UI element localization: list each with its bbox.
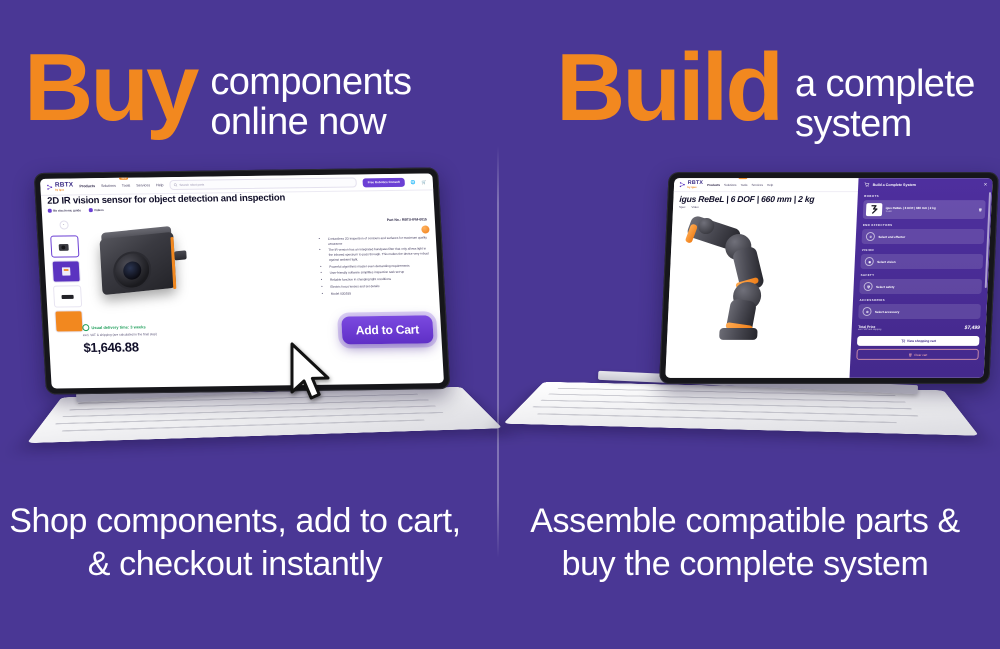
gripper-icon: ☪ bbox=[866, 232, 875, 241]
thumbnail-item[interactable] bbox=[54, 310, 83, 332]
section-label-safety: SAFETY bbox=[861, 273, 989, 277]
list-item: Powerful algorithms master even demandin… bbox=[329, 263, 431, 269]
globe-icon[interactable]: 🌐 bbox=[411, 179, 416, 184]
caption-right: Assemble compatible parts & buy the comp… bbox=[510, 500, 980, 586]
headline-left-sub: components online now bbox=[210, 62, 411, 143]
mouse-cursor-icon bbox=[288, 342, 336, 404]
caption-left: Shop components, add to cart, & checkout… bbox=[0, 500, 470, 586]
product-feature-list: Contactless 2D inspection of contours an… bbox=[322, 235, 434, 298]
select-end-effector-button[interactable]: ☪ Select end effector bbox=[862, 229, 984, 244]
section-label-accessories: ACCESSORIES bbox=[859, 298, 987, 302]
nav-badge-new: NEW bbox=[119, 177, 128, 180]
diagram-thumb-icon bbox=[59, 265, 74, 277]
nav-item-products[interactable]: Products bbox=[707, 183, 720, 187]
section-label-vision: VISION bbox=[862, 248, 990, 252]
cart-icon[interactable]: 🛒 bbox=[422, 179, 427, 184]
thumbnail-prev-button[interactable]: ⌃ bbox=[59, 220, 69, 229]
nav-item-services[interactable]: Services bbox=[136, 183, 150, 187]
select-vision-label: Select vision bbox=[877, 260, 896, 264]
total-price-row: Total Price excl. VAT and shipping $7,49… bbox=[858, 325, 980, 331]
delivery-label: Usual delivery time: 3 weeks bbox=[91, 324, 146, 330]
clear-cart-button[interactable]: 🗑 Clear cart bbox=[857, 349, 979, 360]
select-vision-button[interactable]: ◉ Select vision bbox=[861, 254, 983, 269]
nav-item-tools[interactable]: Tools bbox=[122, 184, 131, 188]
video-icon bbox=[89, 208, 93, 212]
guide-icon bbox=[48, 209, 52, 213]
meta-video[interactable]: Video bbox=[691, 205, 698, 209]
center-divider bbox=[497, 146, 499, 558]
cart-item-robot[interactable]: igus ReBeL | 6 DOF | 660 mm | 2 kg 1 uni… bbox=[863, 200, 986, 219]
list-item: Reliable function in changing light cond… bbox=[330, 277, 432, 283]
meta-spec[interactable]: Spec bbox=[679, 205, 686, 209]
trash-icon: 🗑 bbox=[908, 352, 912, 356]
headline-left: Buy components online now bbox=[24, 42, 411, 143]
panel-header: Build a Complete System bbox=[858, 178, 992, 190]
free-consult-button[interactable]: Free Robotics Consult bbox=[362, 177, 405, 187]
product-price: $1,646.88 bbox=[83, 339, 139, 355]
cart-icon bbox=[901, 339, 905, 343]
nav-item-help[interactable]: Help bbox=[156, 183, 164, 187]
camera-icon: ◉ bbox=[865, 257, 874, 266]
part-number-value: RBTX-IFM-0015 bbox=[402, 217, 427, 221]
part-number: Part No.: RBTX-IFM-0015 bbox=[387, 217, 427, 222]
thumbnail-item[interactable] bbox=[53, 285, 82, 307]
list-item: User-friendly software simplifies inspec… bbox=[330, 270, 432, 276]
tablet-screen-shell-right: RBTX by igus Products Solutions NEW Tool… bbox=[659, 172, 999, 384]
select-accessory-button[interactable]: ⚙ Select accessory bbox=[859, 304, 981, 319]
select-end-effector-label: Select end effector bbox=[878, 235, 905, 239]
meta-guide-label: file electronic guide bbox=[53, 208, 81, 212]
total-price-value: $7,499 bbox=[964, 325, 980, 331]
headline-left-big: Buy bbox=[24, 42, 196, 134]
site-nav-right: RBTX by igus Products Solutions NEW Tool… bbox=[674, 178, 859, 192]
meta-guide[interactable]: file electronic guide bbox=[48, 208, 81, 212]
thumbnail-item[interactable] bbox=[52, 260, 81, 282]
list-item: Contactless 2D inspection of contours an… bbox=[328, 235, 431, 246]
product-meta: file electronic guide Videos bbox=[48, 208, 104, 213]
rbtx-configurator-page: RBTX by igus Products Solutions NEW Tool… bbox=[665, 178, 992, 378]
headline-right-big: Build bbox=[556, 42, 781, 134]
product-thumbnail-list: ⌃ bbox=[49, 220, 83, 332]
headline-right-sub: a complete system bbox=[795, 64, 975, 145]
poster-canvas: Buy components online now Build a comple… bbox=[0, 0, 1000, 649]
total-price-note: excl. VAT and shipping bbox=[858, 329, 881, 331]
nav-item-help[interactable]: Help bbox=[767, 183, 773, 187]
shield-icon: 🛡 bbox=[864, 282, 873, 291]
configurator-product-side: RBTX by igus Products Solutions NEW Tool… bbox=[665, 178, 859, 378]
section-label-end-effectors: END EFFECTORS bbox=[863, 223, 991, 227]
clear-cart-label: Clear cart bbox=[914, 352, 927, 356]
list-item: The IR version has an integrated bandpas… bbox=[328, 247, 431, 262]
tablet-screen-shell-left: RBTX by igus Products Solutions NEW Tool… bbox=[34, 167, 451, 394]
select-safety-label: Select safety bbox=[876, 284, 895, 288]
part-number-label: Part No.: bbox=[387, 218, 401, 222]
nav-item-products[interactable]: Products bbox=[79, 184, 95, 188]
search-input[interactable]: Search robot parts bbox=[169, 177, 357, 190]
bar-thumb-icon bbox=[59, 293, 75, 300]
robot-arm-icon bbox=[866, 203, 883, 216]
rbtx-logo[interactable]: RBTX by igus bbox=[46, 181, 74, 191]
thumbnail-item[interactable] bbox=[50, 235, 79, 257]
panel-title: Build a Complete System bbox=[873, 183, 916, 187]
rbtx-logo-icon bbox=[679, 181, 686, 188]
robot-arm-image bbox=[677, 212, 823, 342]
section-label-robots: ROBOTS bbox=[864, 194, 992, 198]
product-title: igus ReBeL | 6 DOF | 660 mm | 2 kg bbox=[679, 194, 854, 204]
product-hero-image bbox=[84, 221, 197, 308]
add-to-cart-button[interactable]: Add to Cart bbox=[341, 315, 434, 344]
meta-videos[interactable]: Videos bbox=[89, 208, 104, 212]
manufacturer-logo-icon bbox=[421, 225, 429, 233]
search-placeholder: Search robot parts bbox=[179, 183, 204, 187]
robot-arm-thumb-icon bbox=[869, 204, 881, 215]
rbtx-logo-subtext: by igus bbox=[687, 186, 703, 189]
meta-videos-label: Videos bbox=[94, 208, 104, 212]
search-icon bbox=[173, 183, 177, 187]
list-item: Electric focus lenses and set details bbox=[330, 283, 432, 289]
select-accessory-label: Select accessory bbox=[875, 309, 900, 313]
product-meta: Spec Video bbox=[679, 205, 699, 209]
cart-item-qty: 1 unit bbox=[885, 210, 975, 213]
rbtx-logo-icon bbox=[46, 183, 53, 190]
nav-item-tools[interactable]: Tools bbox=[740, 183, 747, 187]
accessory-icon: ⚙ bbox=[863, 307, 872, 316]
rbtx-product-page: RBTX by igus Products Solutions NEW Tool… bbox=[40, 173, 444, 388]
nav-item-solutions[interactable]: Solutions bbox=[101, 184, 116, 188]
rbtx-logo-subtext: by igus bbox=[55, 188, 74, 191]
view-shopping-cart-button[interactable]: View shopping cart bbox=[857, 336, 979, 346]
close-icon[interactable]: ✕ bbox=[983, 182, 987, 188]
view-shopping-cart-label: View shopping cart bbox=[907, 339, 936, 343]
camera-thumb-icon bbox=[55, 240, 74, 253]
nav-item-solutions[interactable]: Solutions bbox=[724, 183, 737, 187]
headline-right: Build a complete system bbox=[556, 42, 975, 145]
tablet-right: RBTX by igus Products Solutions NEW Tool… bbox=[520, 168, 990, 468]
trash-icon[interactable]: 🗑 bbox=[978, 208, 982, 212]
select-safety-button[interactable]: 🛡 Select safety bbox=[860, 279, 982, 294]
cart-icon bbox=[865, 182, 870, 187]
list-item: Model 03D535 bbox=[331, 290, 433, 296]
vat-note: excl. VAT & shipping (are calculated in … bbox=[83, 332, 157, 337]
delivery-status: Usual delivery time: 3 weeks bbox=[82, 323, 146, 331]
tablet-left: RBTX by igus Products Solutions NEW Tool… bbox=[18, 170, 488, 470]
nav-item-services[interactable]: Services bbox=[751, 183, 763, 187]
check-icon bbox=[82, 324, 89, 331]
build-system-panel: Build a Complete System ✕ ROBOTS ig bbox=[850, 178, 993, 378]
rbtx-logo[interactable]: RBTX by igus bbox=[679, 180, 703, 189]
